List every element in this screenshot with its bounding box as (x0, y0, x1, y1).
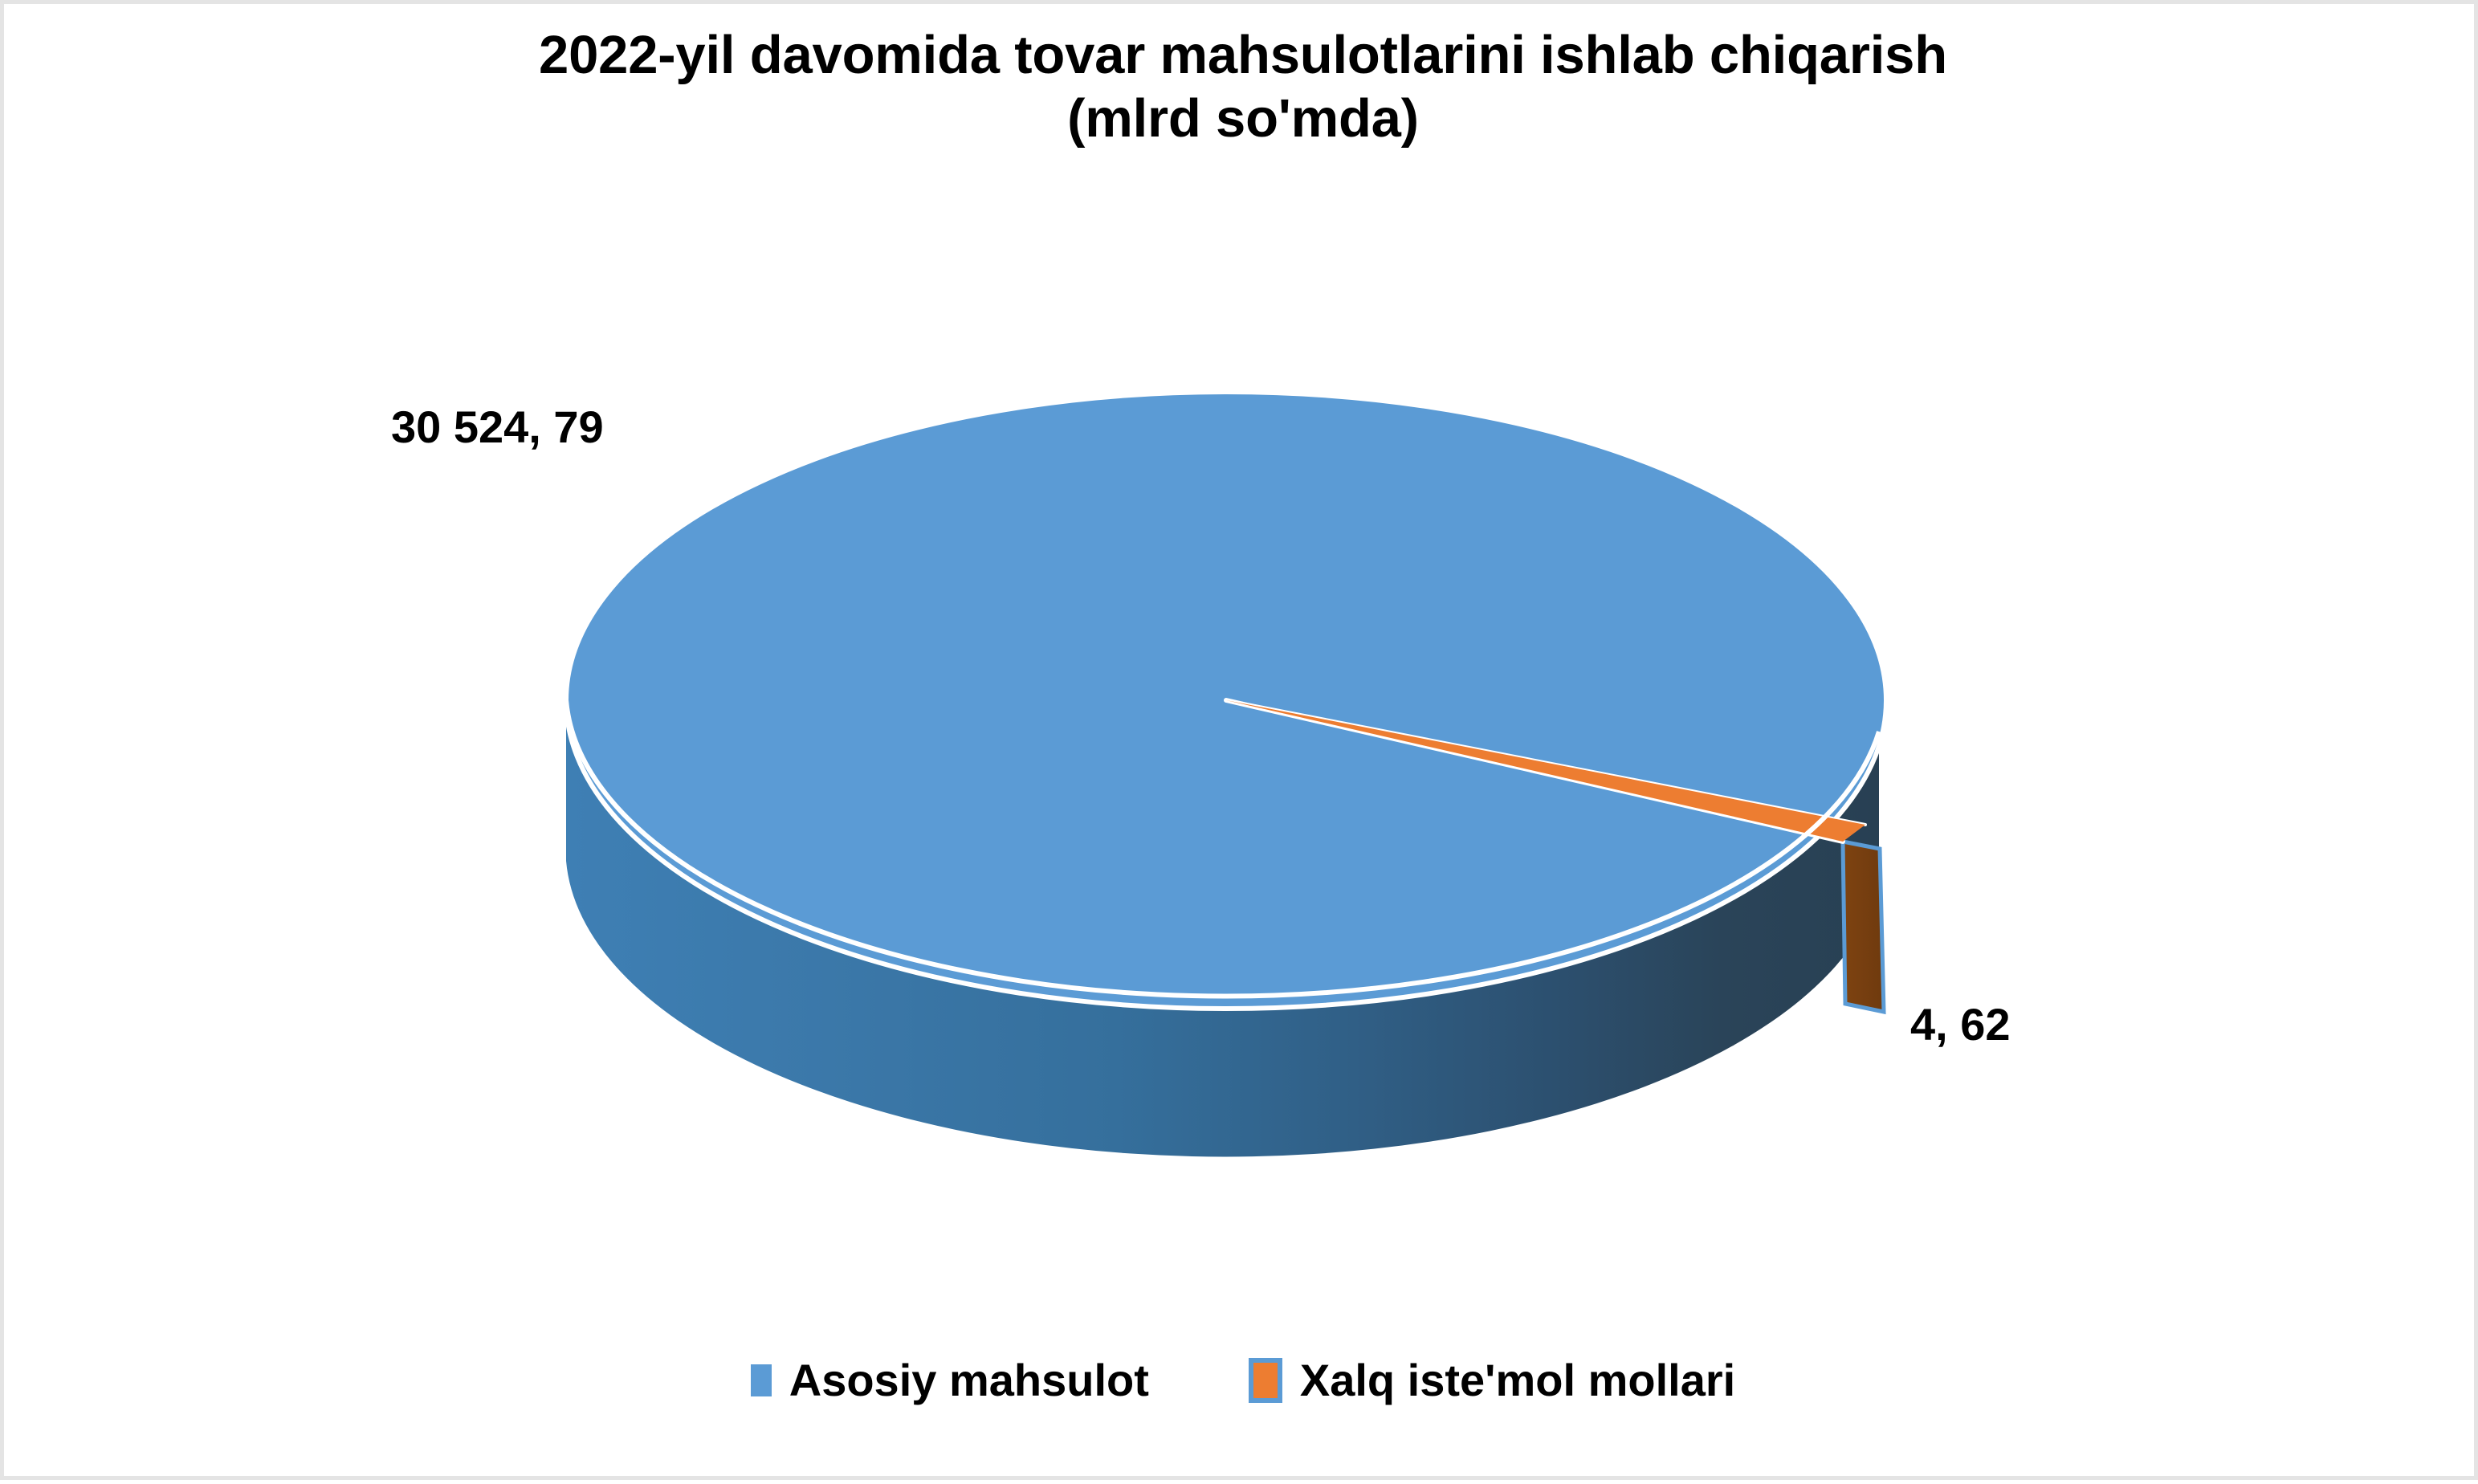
legend-label-xalq-istemol-mollari: Xalq iste'mol mollari (1300, 1358, 1735, 1403)
pie-3d-graphic[interactable] (4, 4, 2478, 1484)
chart-legend: Asosiy mahsulot Xalq iste'mol mollari (4, 1358, 2478, 1403)
legend-swatch-icon-asosiy-mahsulot (751, 1364, 772, 1396)
legend-item-asosiy-mahsulot[interactable]: Asosiy mahsulot (751, 1358, 1149, 1403)
data-label-asosiy-mahsulot: 30 524, 79 (391, 401, 604, 453)
chart-frame: 2022-yil davomida tovar mahsulotlarini i… (0, 0, 2478, 1480)
pie-slice-xalq-wall (1843, 842, 1884, 1012)
legend-swatch-icon-xalq-istemol-mollari (1249, 1358, 1282, 1403)
legend-item-xalq-istemol-mollari[interactable]: Xalq iste'mol mollari (1249, 1358, 1735, 1403)
data-label-xalq-istemol-mollari: 4, 62 (1910, 998, 2011, 1050)
plot-area: 30 524, 79 4, 62 (4, 4, 2478, 1484)
legend-label-asosiy-mahsulot: Asosiy mahsulot (789, 1358, 1149, 1403)
